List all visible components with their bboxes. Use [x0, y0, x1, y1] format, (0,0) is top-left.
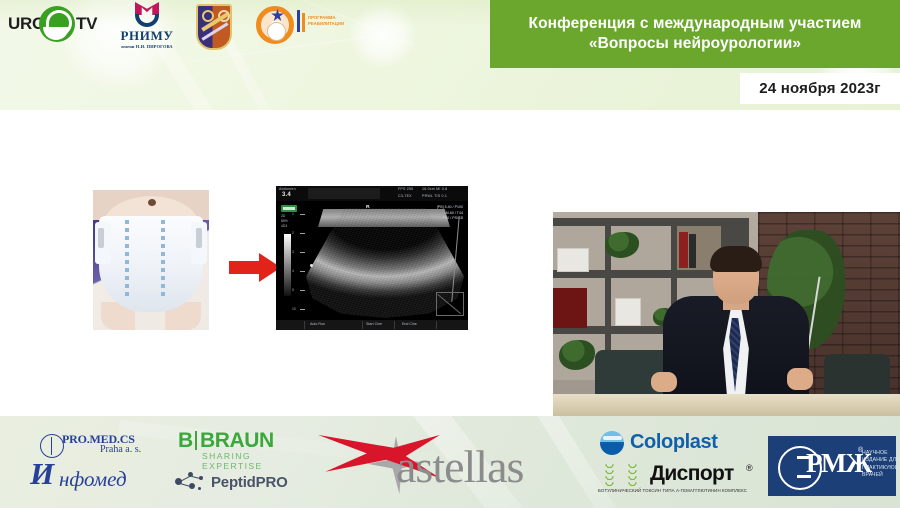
us-thumbnail-box — [436, 292, 464, 316]
disport-registered: ® — [746, 463, 753, 473]
sponsor-b-braun: B BRAUN SHARING EXPERTISE — [178, 430, 306, 460]
peptidpro-name: PeptidPRO — [211, 474, 288, 491]
figure-ultrasound: Abdomen 3.4 FPS 255 16.0cm MI 0.8 C3-7EX… — [276, 186, 468, 330]
rnimu-title: РНИМУ — [108, 29, 186, 43]
sponsor-astellas: astellas — [318, 434, 558, 496]
ultrasound-bottom-bar: Auto Run Start Cine End Cine — [276, 320, 468, 330]
b-braun-tagline: SHARING EXPERTISE — [202, 451, 306, 471]
us-left-params: 2D85%4D3 — [281, 214, 288, 229]
speaker — [663, 246, 809, 394]
astellas-name: astellas — [396, 444, 523, 490]
us-preset-badge — [281, 205, 297, 212]
us-btn-end-cine[interactable]: End Cine — [402, 322, 417, 326]
us-region-value: 3.4 — [282, 192, 291, 198]
disport-waves-icon — [598, 464, 644, 486]
logo-orange-emblem: ПРОГРАММА РЕАБИЛИТАЦИИ — [256, 6, 336, 48]
sponsor-rmj: РМЖ ® НАУЧНОЕ ИЗДАНИЕ ДЛЯ ПРАКТИКУЮЩИХ В… — [768, 436, 896, 496]
conference-title-line2: «Вопросы нейроурологии» — [589, 34, 801, 54]
us-probe: C3-7EX — [398, 194, 412, 198]
b-braun-name: BRAUN — [200, 430, 274, 451]
us-depth-mi: 16.0cm MI 0.8 — [422, 187, 447, 191]
ultrasound-top-bar: Abdomen 3.4 FPS 255 16.0cm MI 0.8 C3-7EX… — [276, 186, 468, 201]
coloplast-icon — [600, 431, 624, 455]
us-right-line2: M-60 / T44 — [446, 211, 463, 215]
infomed-rest: нфомед — [59, 468, 127, 490]
orange-ball-icon — [267, 22, 286, 41]
speaker-hand-right — [787, 368, 813, 390]
sponsor-peptidpro: PeptidPRO — [175, 472, 325, 496]
header: URO TV РНИМУ имени Н.И. ПИРОГОВА — [0, 0, 900, 110]
shelf-poster — [553, 288, 587, 328]
disport-subtitle: БОТУЛИНИЧЕСКИЙ ТОКСИН ТИПА А-ГЕМАГГЛЮТИН… — [598, 488, 747, 493]
logo-row: URO TV РНИМУ имени Н.И. ПИРОГОВА — [0, 0, 490, 110]
speaker-hand-left — [651, 372, 677, 392]
coloplast-name: Coloplast — [630, 431, 718, 454]
b-braun-b: B — [178, 430, 193, 451]
us-region-label: Abdomen — [279, 187, 296, 191]
peptidpro-molecule-icon — [175, 472, 205, 494]
shelf-picture-2 — [615, 298, 641, 326]
rmj-sub3: ПРАКТИКУЮЩИХ — [862, 465, 900, 471]
conference-date-box: 24 ноября 2023г — [740, 73, 900, 104]
uro-tv-leaf-icon — [39, 6, 75, 42]
conference-banner: Конференция с международным участием «Во… — [490, 0, 900, 68]
rnimu-subtitle: имени Н.И. ПИРОГОВА — [108, 44, 186, 49]
us-prwl-tis: PRWL TIS 0.1 — [422, 194, 447, 198]
sponsor-pro-med-cs: PRO.MED.CS Praha a. s. — [40, 432, 160, 460]
speaker-video-feed[interactable] — [553, 212, 900, 416]
rmj-sub2: ИЗДАНИЕ ДЛЯ — [862, 457, 900, 463]
shelf-picture-1 — [557, 248, 589, 272]
pro-med-cs-icon — [40, 434, 64, 458]
us-right-line1: [PB] 5.40 / P100 — [437, 205, 463, 209]
sponsor-disport: Диспорт ® БОТУЛИНИЧЕСКИЙ ТОКСИН ТИПА А-Г… — [598, 462, 774, 498]
pro-med-cs-line2: Praha a. s. — [100, 444, 141, 455]
us-grayscale-ramp — [284, 234, 291, 296]
orange-emblem-line1: ПРОГРАММА — [308, 15, 336, 20]
conference-date: 24 ноября 2023г — [759, 80, 880, 97]
rmj-sub1: НАУЧНОЕ — [862, 450, 888, 456]
chair-right — [824, 354, 890, 394]
desk-surface — [553, 394, 900, 416]
logo-shield-emblem — [196, 4, 232, 50]
us-fps: FPS 255 — [398, 187, 413, 191]
us-btn-auto-run[interactable]: Auto Run — [310, 322, 325, 326]
slide-stage: URO TV РНИМУ имени Н.И. ПИРОГОВА — [0, 0, 900, 508]
disport-name: Диспорт — [650, 462, 734, 486]
us-depth-scale: 1 2 3 4 5 10 — [300, 214, 305, 309]
sponsor-coloplast: Coloplast — [600, 430, 740, 460]
red-arrow-icon — [229, 253, 281, 281]
navel-detail — [148, 199, 156, 206]
conference-title-line1: Конференция с международным участием — [529, 14, 862, 34]
rnimu-mark-icon — [132, 2, 162, 28]
figure-adult-diaper — [93, 190, 209, 330]
rmj-sub4: ВРАЧЕЙ — [862, 472, 883, 478]
rmj-subtitle: НАУЧНОЕ ИЗДАНИЕ ДЛЯ ПРАКТИКУЮЩИХ ВРАЧЕЙ — [862, 450, 900, 480]
us-btn-start-cine[interactable]: Start Cine — [366, 322, 382, 326]
logo-uro-tv: URO TV — [6, 4, 106, 44]
sponsor-infomed: И нфомед — [30, 460, 160, 494]
orange-emblem-line2: РЕАБИЛИТАЦИИ — [308, 21, 344, 26]
logo-rnimu: РНИМУ имени Н.И. ПИРОГОВА — [108, 2, 186, 56]
uro-tv-right-text: TV — [76, 14, 97, 34]
infomed-initial: И — [30, 458, 54, 489]
